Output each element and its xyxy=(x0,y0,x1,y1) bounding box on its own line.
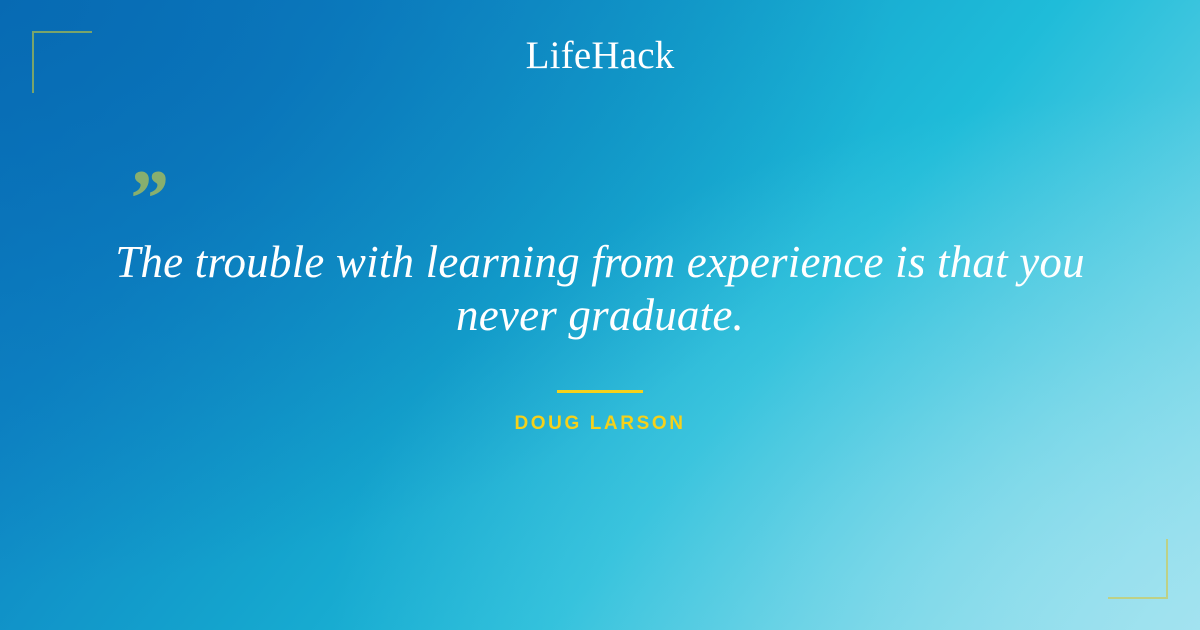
divider-wrapper xyxy=(0,380,1200,398)
divider-rule xyxy=(557,390,643,393)
quote-card: LifeHack ” The trouble with learning fro… xyxy=(0,0,1200,630)
corner-bracket-bottom-right-icon xyxy=(1108,539,1168,599)
quote-block: The trouble with learning from experienc… xyxy=(0,236,1200,342)
quote-author: DOUG LARSON xyxy=(0,413,1200,435)
quotation-mark-icon: ” xyxy=(126,158,167,240)
brand-logo: LifeHack xyxy=(0,36,1200,75)
quote-text: The trouble with learning from experienc… xyxy=(0,236,1200,342)
